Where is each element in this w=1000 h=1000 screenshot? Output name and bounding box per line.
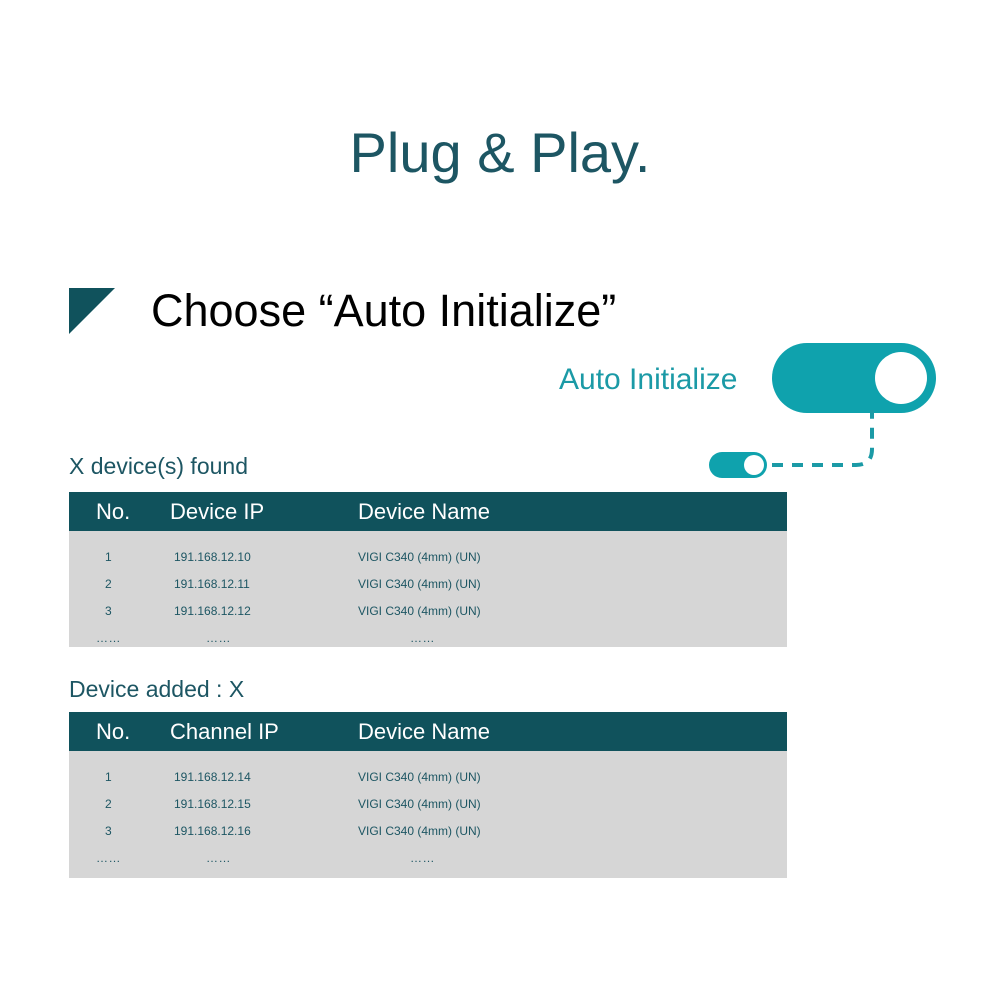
table-row[interactable]: 1 191.168.12.10 VIGI C340 (4mm) (UN) (69, 543, 787, 570)
devices-added-caption: Device added : X (69, 675, 244, 703)
table-header-row: No. Channel IP Device Name (69, 712, 787, 751)
column-header-no: No. (69, 719, 170, 745)
cell-device-ip-ellipsis: …… (170, 630, 358, 646)
auto-initialize-label: Auto Initialize (559, 362, 737, 398)
cell-no-ellipsis: …… (69, 630, 170, 646)
column-header-device-name: Device Name (358, 499, 787, 525)
cell-device-name: VIGI C340 (4mm) (UN) (358, 576, 787, 592)
cell-device-ip: 191.168.12.12 (170, 603, 358, 619)
cell-no: 2 (69, 796, 170, 812)
cell-device-name: VIGI C340 (4mm) (UN) (358, 603, 787, 619)
page-title: Plug & Play. (0, 118, 1000, 188)
cell-channel-ip-ellipsis: …… (170, 850, 358, 866)
column-header-device-ip: Device IP (170, 499, 358, 525)
table-body: 1 191.168.12.14 VIGI C340 (4mm) (UN) 2 1… (69, 751, 787, 871)
cell-no: 2 (69, 576, 170, 592)
cell-no-ellipsis: …… (69, 850, 170, 866)
cell-device-name: VIGI C340 (4mm) (UN) (358, 796, 787, 812)
column-header-device-name: Device Name (358, 719, 787, 745)
auto-initialize-toggle-mini[interactable] (709, 452, 767, 478)
table-row[interactable]: 3 191.168.12.12 VIGI C340 (4mm) (UN) (69, 597, 787, 624)
cell-device-name: VIGI C340 (4mm) (UN) (358, 823, 787, 839)
cell-no: 1 (69, 549, 170, 565)
cell-device-name: VIGI C340 (4mm) (UN) (358, 769, 787, 785)
cell-channel-ip: 191.168.12.16 (170, 823, 358, 839)
cell-no: 1 (69, 769, 170, 785)
table-row[interactable]: 2 191.168.12.15 VIGI C340 (4mm) (UN) (69, 790, 787, 817)
table-row[interactable]: 1 191.168.12.14 VIGI C340 (4mm) (UN) (69, 763, 787, 790)
table-row[interactable]: 2 191.168.12.11 VIGI C340 (4mm) (UN) (69, 570, 787, 597)
toggle-knob-mini (744, 455, 764, 475)
section-heading-label: Choose “Auto Initialize” (151, 285, 616, 337)
dashed-connector-icon (760, 408, 890, 488)
table-body: 1 191.168.12.10 VIGI C340 (4mm) (UN) 2 1… (69, 531, 787, 651)
cell-channel-ip: 191.168.12.15 (170, 796, 358, 812)
table-row-ellipsis: …… …… …… (69, 844, 787, 871)
cell-no: 3 (69, 603, 170, 619)
cell-device-name: VIGI C340 (4mm) (UN) (358, 549, 787, 565)
devices-found-table: No. Device IP Device Name 1 191.168.12.1… (69, 492, 787, 647)
cell-device-name-ellipsis: …… (358, 850, 787, 866)
triangle-marker-icon (69, 288, 115, 334)
cell-device-name-ellipsis: …… (358, 630, 787, 646)
auto-initialize-toggle[interactable] (772, 343, 936, 413)
devices-found-caption: X device(s) found (69, 452, 248, 480)
devices-added-table: No. Channel IP Device Name 1 191.168.12.… (69, 712, 787, 878)
table-header-row: No. Device IP Device Name (69, 492, 787, 531)
cell-no: 3 (69, 823, 170, 839)
cell-device-ip: 191.168.12.11 (170, 576, 358, 592)
cell-channel-ip: 191.168.12.14 (170, 769, 358, 785)
column-header-no: No. (69, 499, 170, 525)
table-row[interactable]: 3 191.168.12.16 VIGI C340 (4mm) (UN) (69, 817, 787, 844)
table-row-ellipsis: …… …… …… (69, 624, 787, 651)
section-heading: Choose “Auto Initialize” (69, 278, 616, 344)
toggle-knob (875, 352, 927, 404)
column-header-channel-ip: Channel IP (170, 719, 358, 745)
cell-device-ip: 191.168.12.10 (170, 549, 358, 565)
